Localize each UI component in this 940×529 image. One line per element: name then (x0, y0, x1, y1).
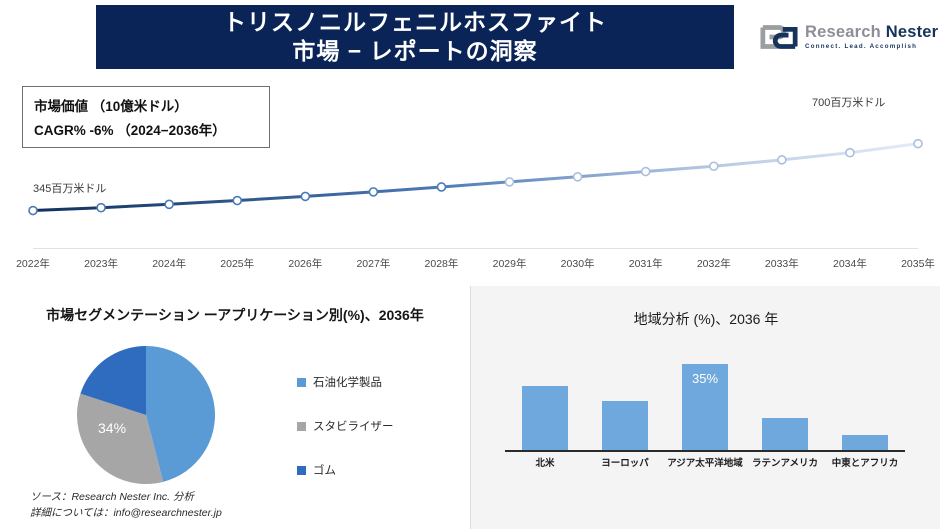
research-nester-logo-icon (760, 23, 798, 51)
x-tick-label: 2028年 (425, 256, 459, 271)
line-data-point (369, 188, 377, 196)
bar-chart-x-axis (505, 450, 905, 452)
report-title-line-1: トリスノニルフェニルホスファイト (223, 8, 607, 37)
bar-category-label: アジア太平洋地域 (667, 455, 743, 469)
line-data-point (437, 183, 445, 191)
bar-category-label: 北米 (535, 455, 554, 469)
line-data-point (846, 149, 854, 157)
bar (602, 401, 648, 450)
x-tick-label: 2022年 (16, 256, 50, 271)
line-data-point (778, 156, 786, 164)
line-data-point (29, 207, 37, 215)
pie-legend: 石油化学製品スタビライザーゴム (297, 360, 462, 492)
bar-column[interactable]: 35% (682, 364, 728, 450)
x-tick-label: 2024年 (152, 256, 186, 271)
line-data-point (165, 200, 173, 208)
legend-swatch-icon (297, 422, 306, 431)
header-banner: トリスノニルフェニルホスファイト 市場 − レポートの洞察 (96, 5, 734, 69)
bar-category-label: ヨーロッパ (601, 455, 649, 469)
line-chart-svg (0, 76, 940, 251)
x-tick-label: 2029年 (493, 256, 527, 271)
segmentation-title: 市場セグメンテーション ーアプリケーション別(%)、2036年 (20, 304, 450, 327)
bar (842, 435, 888, 450)
logo-name: Research Nester (805, 24, 938, 41)
line-end-value-label: 700百万米ドル (812, 94, 885, 110)
bar-column[interactable] (762, 418, 808, 450)
pie-legend-label: 石油化学製品 (313, 374, 382, 390)
bar-column[interactable] (522, 386, 568, 450)
pie-legend-label: ゴム (313, 462, 336, 478)
bar-value-label: 35% (682, 371, 728, 386)
line-data-point (301, 192, 309, 200)
line-data-point (914, 140, 922, 148)
report-infographic-page: トリスノニルフェニルホスファイト 市場 − レポートの洞察 Research N… (0, 0, 940, 529)
x-tick-label: 2034年 (833, 256, 867, 271)
bar-chart-x-tick-labels: 北米ヨーロッパアジア太平洋地域ラテンアメリカ中東とアフリカ (505, 455, 905, 473)
line-data-point (97, 204, 105, 212)
line-chart-x-tick-labels: 2022年2023年2024年2025年2026年2027年2028年2029年… (33, 256, 918, 276)
research-nester-logo: Research Nester Connect. Lead. Accomplis… (760, 16, 932, 58)
x-tick-label: 2030年 (561, 256, 595, 271)
pie-legend-label: スタビライザー (313, 418, 394, 434)
line-data-point (574, 173, 582, 181)
x-tick-label: 2027年 (356, 256, 390, 271)
bar (762, 418, 808, 450)
line-data-point (642, 168, 650, 176)
logo-wordmark: Research Nester Connect. Lead. Accomplis… (805, 24, 938, 50)
bar-column[interactable] (602, 401, 648, 450)
x-tick-label: 2035年 (901, 256, 935, 271)
line-data-point (506, 178, 514, 186)
logo-tagline: Connect. Lead. Accomplish (805, 44, 938, 50)
x-tick-label: 2025年 (220, 256, 254, 271)
x-tick-label: 2031年 (629, 256, 663, 271)
x-tick-label: 2033年 (765, 256, 799, 271)
bar-category-label: 中東とアフリカ (832, 455, 899, 469)
x-tick-label: 2026年 (288, 256, 322, 271)
pie-svg (76, 345, 216, 485)
report-title-line-2: 市場 − レポートの洞察 (292, 37, 537, 66)
bar: 35% (682, 364, 728, 450)
x-tick-label: 2023年 (84, 256, 118, 271)
source-line-1: ソース：Research Nester Inc. 分析 (30, 489, 222, 505)
pie-legend-item[interactable]: ゴム (297, 448, 462, 492)
source-note: ソース：Research Nester Inc. 分析 詳細については：info… (30, 489, 222, 521)
regional-analysis-title: 地域分析 (%)、2036 年 (471, 309, 940, 329)
pie-slice-label-stabilizer: 34% (98, 420, 126, 436)
line-start-value-label: 345百万米ドル (33, 180, 106, 196)
bar-column[interactable] (842, 435, 888, 450)
pie-legend-item[interactable]: 石油化学製品 (297, 360, 462, 404)
pie-legend-item[interactable]: スタビライザー (297, 404, 462, 448)
legend-swatch-icon (297, 378, 306, 387)
regional-bar-chart: 35% (505, 352, 905, 450)
legend-swatch-icon (297, 466, 306, 475)
line-data-point (233, 197, 241, 205)
market-value-line-chart (0, 76, 940, 251)
x-tick-label: 2032年 (697, 256, 731, 271)
bar-category-label: ラテンアメリカ (752, 455, 818, 469)
line-data-point (710, 162, 718, 170)
source-line-2: 詳細については：info@researchnester.jp (30, 505, 222, 521)
segmentation-pie-chart (76, 345, 216, 485)
bar (522, 386, 568, 450)
line-chart-x-axis (33, 248, 918, 249)
